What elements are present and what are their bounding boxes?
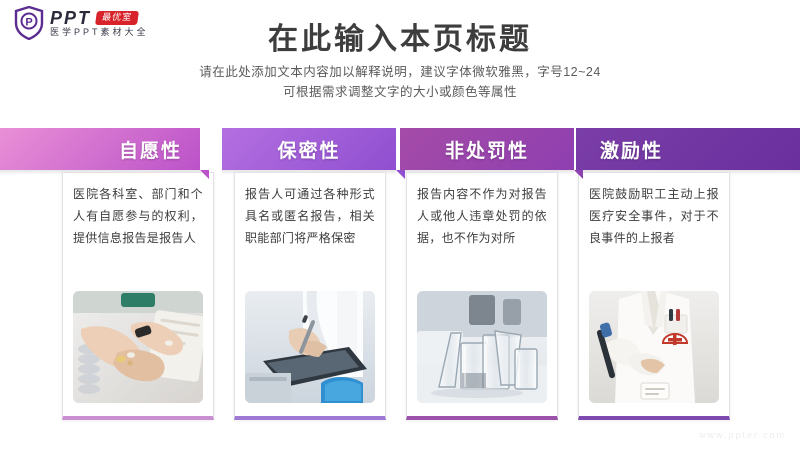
content-card[interactable]: 医院各科室、部门和个人有自愿参与的权利，提供信息报告是报告人: [62, 172, 214, 420]
ribbon-fold-corner: [396, 170, 405, 179]
ribbon-label: 激励性: [600, 136, 663, 163]
ribbon-label: 保密性: [277, 136, 340, 163]
card-body-text: 报告内容不作为对报告人或他人违章处罚的依据，也不作为对所: [417, 183, 547, 287]
hands-with-pills-photo: [73, 291, 203, 403]
page-subtitle: 请在此处添加文本内容加以解释说明，建议字体微软雅黑，字号12~24 可根据需求调…: [0, 62, 800, 102]
page-title: 在此输入本页标题: [0, 14, 800, 58]
ribbon-label: 自愿性: [119, 136, 182, 163]
ribbon-fold-corner: [574, 170, 583, 179]
card-body-text: 医院鼓励职工主动上报医疗安全事件，对于不良事件的上报者: [589, 183, 719, 287]
ribbon-fold-corner: [200, 170, 209, 179]
footer-watermark: www.ppter.com: [699, 430, 786, 440]
lab-coat-with-pipette-photo: [589, 291, 719, 403]
ribbon-banner-voluntary[interactable]: 自愿性: [0, 128, 200, 170]
ribbon-label: 非处罚性: [445, 136, 529, 163]
card-body-text: 医院各科室、部门和个人有自愿参与的权利，提供信息报告是报告人: [73, 183, 203, 287]
content-card[interactable]: 报告人可通过各种形式具名或匿名报告，相关职能部门将严格保密: [234, 172, 386, 420]
slide-canvas: P PPT 最优室 医学PPT素材大全 在此输入本页标题 请在此处添加文本内容加…: [0, 0, 800, 450]
page-subtitle-line-1: 请在此处添加文本内容加以解释说明，建议字体微软雅黑，字号12~24: [0, 62, 800, 82]
ribbon-banner-incentive[interactable]: 激励性: [576, 128, 800, 170]
ribbon-banner-non-punitive[interactable]: 非处罚性: [400, 128, 574, 170]
content-card[interactable]: 医院鼓励职工主动上报医疗安全事件，对于不良事件的上报者: [578, 172, 730, 420]
laboratory-glassware-photo: [417, 291, 547, 403]
doctor-writing-on-tablet-photo: [245, 291, 375, 403]
content-card[interactable]: 报告内容不作为对报告人或他人违章处罚的依据，也不作为对所: [406, 172, 558, 420]
card-body-text: 报告人可通过各种形式具名或匿名报告，相关职能部门将严格保密: [245, 183, 375, 287]
page-subtitle-line-2: 可根据需求调整文字的大小或颜色等属性: [0, 82, 800, 102]
ribbon-banner-confidential[interactable]: 保密性: [222, 128, 396, 170]
